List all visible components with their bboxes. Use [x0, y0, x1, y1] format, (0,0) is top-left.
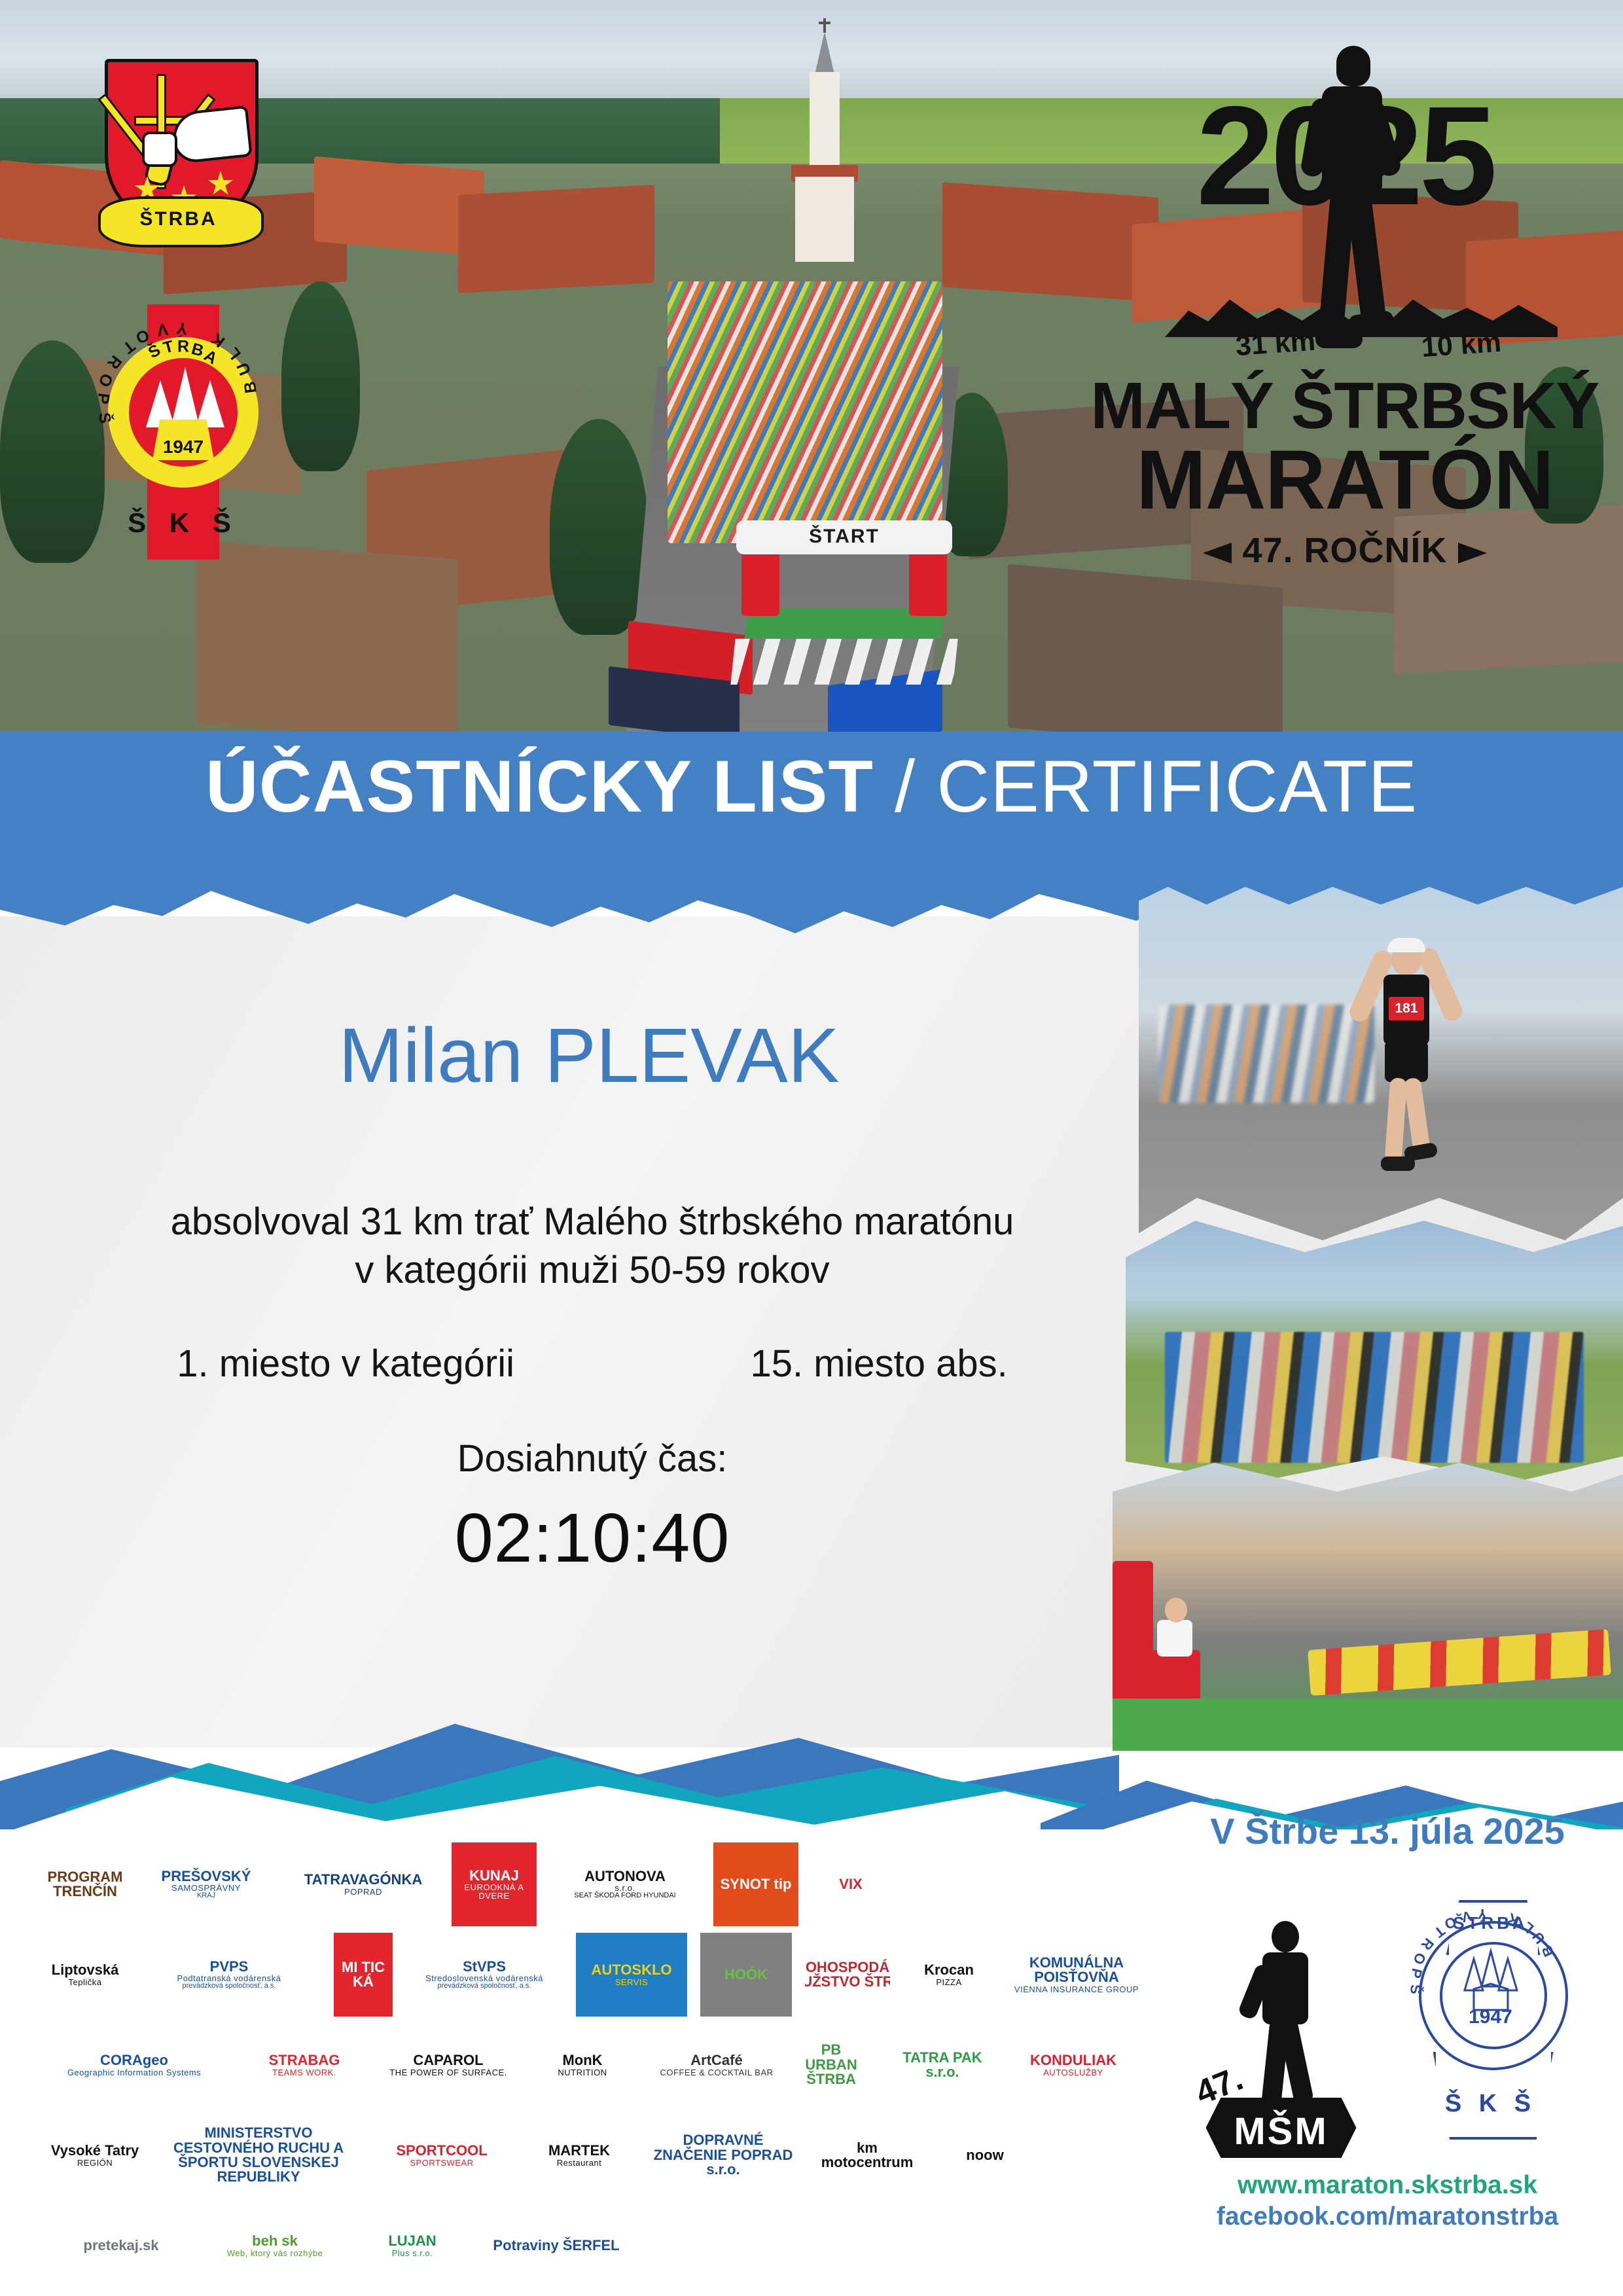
sponsor-name: StVPS [463, 1958, 506, 1975]
tree [281, 281, 360, 471]
sponsor-name: POĽNOHOSPODÁRSKE DRUŽSTVO ŠTRBA [805, 1959, 890, 1990]
sponsor-name: Krocan [924, 1962, 974, 1978]
race-bib-number: 181 [1389, 997, 1424, 1020]
sponsor-name: STRABAG [269, 2052, 340, 2068]
sponsor-name: beh sk [252, 2233, 298, 2249]
sponsor-logo[interactable]: Vysoké TatryREGIÓN [46, 2113, 144, 2197]
sponsor-row: LiptovskáTepličkaPVPSPodtatranská vodáre… [46, 1933, 1158, 2017]
sponsor-name: Vysoké Tatry [51, 2142, 139, 2159]
sponsor-name: PROGRAM TRENČÍN [48, 1869, 123, 1899]
sponsor-logo[interactable]: DOPRAVNÉ ZNAČENIE POPRAD s.r.o. [648, 2113, 798, 2197]
sponsor-subtitle: SERVIS [591, 1978, 671, 1986]
sponsor-logo[interactable]: PREŠOVSKÝSAMOSPRÁVNYKRAJ [137, 1842, 275, 1926]
sponsor-name: KOMUNÁLNA POISŤOVŇA [1029, 1954, 1124, 1985]
banner-title-bold: ÚČASTNÍCKY LIST [205, 745, 874, 827]
sponsor-name: MI TIC KÁ [342, 1959, 385, 1990]
sponsor-logo[interactable]: POĽNOHOSPODÁRSKE DRUŽSTVO ŠTRBA [805, 1933, 890, 2017]
msm-abbreviation: MŠM [1206, 2109, 1357, 2153]
athlete-name: Milan PLEVAK [79, 1011, 1099, 1100]
place-absolute: 15. miesto abs. [750, 1342, 1007, 1386]
banner-title-light: CERTIFICATE [936, 745, 1418, 827]
sponsor-subtitle: VIENNA INSURANCE GROUP [1009, 1985, 1144, 1994]
club-logo-abbreviation: Š K Š [101, 507, 265, 539]
group-runners-figures [1165, 1332, 1584, 1463]
sponsor-logo[interactable]: noow [936, 2113, 1034, 2197]
sponsor-subtitle: Stredoslovenská vodárenská [425, 1974, 543, 1982]
sponsor-name: AUTOSKLO [591, 1962, 671, 1978]
sks-strba-club-logo: ŠTRBA 1947 ŠPORTOVÝ KLUB Š K Š [101, 291, 265, 566]
date-and-place: V Štrbe 13. júla 2025 [1171, 1810, 1603, 1852]
sponsor-logo[interactable]: TATRAVAGÓNKAPOPRAD [288, 1842, 438, 1926]
sponsor-name: AUTONOVA [584, 1868, 666, 1884]
roof [458, 185, 654, 293]
spectators-blur [1158, 1005, 1374, 1103]
sponsor-subtitle: REGIÓN [51, 2159, 139, 2167]
cap-icon [1387, 938, 1425, 952]
description-line-1: absolvoval 31 km trať Malého štrbského m… [59, 1198, 1126, 1246]
sponsor-logo[interactable]: PB URBAN ŠTRBA [792, 2023, 870, 2107]
sponsor-subtitle: EUROOKNÁ A DVERE [453, 1883, 535, 1901]
sponsor-name: DOPRAVNÉ ZNAČENIE POPRAD s.r.o. [654, 2132, 793, 2178]
photo-group-runners [1126, 1221, 1623, 1482]
sponsor-logo[interactable]: LUJANPlus s.r.o. [353, 2204, 471, 2287]
sponsor-subtitle: NUTRITION [558, 2068, 607, 2077]
sponsor-logo[interactable]: PVPSPodtatranská vodárenskáprevádzková s… [137, 1933, 321, 2017]
start-arch-label: ŠTART [736, 526, 952, 548]
sks-abbreviation: Š K Š [1433, 2090, 1548, 2118]
leg-right [1403, 1077, 1430, 1153]
runner-crowd [668, 281, 942, 543]
sponsor-name: SPORTCOOL [396, 2142, 487, 2159]
contact-urls: www.maraton.skstrba.sk facebook.com/mara… [1171, 2170, 1603, 2232]
sponsor-logo[interactable]: PROGRAM TRENČÍN [46, 1842, 124, 1926]
finisher-woman-figure: 181 [1355, 926, 1459, 1201]
sponsor-logo[interactable]: SYNOT tip [713, 1842, 798, 1926]
sponsor-subtitle: SAMOSPRÁVNY [162, 1884, 251, 1892]
sponsor-subtitle: Web, ktorý vás rozhýbe [227, 2249, 323, 2257]
sponsor-subtitle: Plus s.r.o. [388, 2249, 436, 2257]
sponsor-subtitle: Restaurant [548, 2159, 610, 2167]
placement-row: 1. miesto v kategórii 15. miesto abs. [59, 1342, 1126, 1386]
emblem-sks-outline: ŠTRBA ŠPORTOVÝ KLUB 1947 Š K [1393, 1901, 1589, 2163]
runner-torso [1322, 86, 1382, 191]
distance-10km-ridge: 10 km [1342, 291, 1558, 363]
title-banner: ÚČASTNÍCKY LIST / CERTIFICATE [0, 732, 1623, 882]
sponsor-name: MARTEK [548, 2142, 610, 2159]
achieved-time-value: 02:10:40 [59, 1499, 1126, 1578]
website-url[interactable]: www.maraton.skstrba.sk [1171, 2170, 1603, 2201]
sponsor-logo[interactable]: TATRA PAK s.r.o. [883, 2023, 1001, 2107]
arrow-left-icon [1203, 543, 1232, 564]
sponsor-name: SYNOT tip [721, 1876, 792, 1892]
sponsor-logo[interactable]: km motocentrum [811, 2113, 923, 2197]
sponsor-logo[interactable]: beh skWeb, ktorý vás rozhýbe [209, 2204, 340, 2287]
distance-31km-ridge: 31 km [1165, 291, 1361, 363]
achieved-time-label: Dosiahnutý čas: [59, 1437, 1126, 1480]
sponsor-logo[interactable]: AUTOSKLOSERVIS [576, 1933, 687, 2017]
shorts [1385, 1041, 1428, 1082]
head [1272, 1921, 1299, 1952]
arch-right-leg [909, 550, 947, 616]
start-arch: ŠTART [736, 520, 952, 612]
sponsor-subtitle-2: SEAT ŠKODA FORD HYUNDAI [574, 1892, 675, 1899]
sponsor-logo[interactable]: STRABAGTEAMS WORK. [236, 2023, 373, 2107]
sponsor-logo[interactable]: ArtCaféCOFFEE & COCKTAIL BAR [654, 2023, 779, 2107]
sponsor-name: MINISTERSTVO CESTOVNÉHO RUCHU A ŠPORTU S… [173, 2125, 344, 2185]
distance-10km-label: 10 km [1420, 327, 1502, 364]
sponsor-logo[interactable]: KONDULIAKAUTOSLUŽBY [1014, 2023, 1132, 2107]
sponsor-subtitle: AUTOSLUŽBY [1030, 2068, 1116, 2077]
runner-head [1336, 46, 1370, 86]
distance-31km-label: 31 km [1234, 325, 1316, 363]
sponsor-name: PVPS [210, 1958, 249, 1975]
crest-fist-icon [142, 132, 177, 167]
msm-runner-icon [1245, 1921, 1324, 2117]
sponsor-logo[interactable]: CORAgeoGeographic Information Systems [46, 2023, 223, 2107]
emblem-47-msm: 47. MŠM [1200, 1901, 1363, 2163]
sponsor-logo[interactable]: KUNAJEUROOKNÁ A DVERE [452, 1842, 537, 1926]
sponsor-subtitle: THE POWER OF SURFACE. [389, 2068, 507, 2077]
sponsor-subtitle: Teplička [52, 1978, 119, 1986]
roof [196, 541, 458, 742]
shoe-right [1403, 1142, 1438, 1162]
crest-ribbon-label: ŠTRBA [98, 208, 259, 230]
sks-mountain-svg [1452, 1947, 1530, 2013]
event-logo: 2025 31 km 10 km MALÝ ŠTRBSKÝ MARATÓN 47… [1086, 33, 1603, 602]
torso [1262, 1952, 1308, 2024]
sponsor-logo[interactable]: MI TIC KÁ [334, 1933, 393, 2017]
sponsor-name: CAPAROL [413, 2052, 483, 2068]
footer-emblems: 47. MŠM ŠTRBA ŠPORTOVÝ KLUB [1185, 1895, 1603, 2170]
sponsor-logo[interactable]: CAPAROLTHE POWER OF SURFACE. [386, 2023, 510, 2107]
certificate-description: absolvoval 31 km trať Malého štrbského m… [59, 1198, 1126, 1295]
church-cross-icon [823, 18, 826, 33]
sponsor-logo[interactable]: MARTEKRestaurant [524, 2113, 635, 2197]
sponsor-name: TATRAVAGÓNKA [304, 1871, 422, 1888]
crosswalk [730, 639, 957, 685]
club-logo-bottom-arc-text: ŠPORTOVÝ KLUB [108, 337, 259, 488]
sponsor-subtitle: POPRAD [304, 1888, 422, 1896]
sponsor-logo[interactable]: MINISTERSTVO CESTOVNÉHO RUCHU A ŠPORTU S… [157, 2113, 360, 2197]
sponsor-name: pretekaj.sk [84, 2237, 159, 2253]
sponsor-name: LUJAN [388, 2233, 436, 2249]
sponsor-subtitle-2: KRAJ [162, 1892, 251, 1899]
sponsor-name: TATRA PAK s.r.o. [902, 2049, 982, 2080]
sponsor-logo[interactable]: VIX [811, 1842, 890, 1926]
sponsor-name: PB URBAN ŠTRBA [805, 2041, 857, 2087]
photo-finisher-woman: 181 [1139, 887, 1623, 1240]
sponsor-name: HOÓK [724, 1966, 768, 1982]
sponsor-logo[interactable]: Potraviny ŠERFEL [484, 2204, 628, 2287]
sponsor-logo[interactable]: pretekaj.sk [46, 2204, 196, 2287]
sponsor-name: MonK [562, 2052, 602, 2068]
tree [550, 419, 648, 635]
sponsor-row: pretekaj.skbeh skWeb, ktorý vás rozhýbeL… [46, 2204, 1158, 2287]
head [1165, 1598, 1187, 1623]
sponsor-name: Liptovská [52, 1962, 119, 1978]
sponsor-logo[interactable]: AUTONOVAs.r.o.SEAT ŠKODA FORD HYUNDAI [550, 1842, 700, 1926]
sponsor-row: PROGRAM TRENČÍNPREŠOVSKÝSAMOSPRÁVNYKRAJT… [46, 1842, 1158, 1926]
sponsor-name: PREŠOVSKÝ [162, 1868, 251, 1884]
msm-band: MŠM [1206, 2098, 1357, 2158]
crest-arm-icon [170, 105, 253, 164]
sponsor-subtitle: Podtatranská vodárenská [177, 1974, 281, 1982]
sponsor-name: km motocentrum [821, 2140, 914, 2170]
sponsor-subtitle: Geographic Information Systems [67, 2068, 201, 2077]
sponsor-name: VIX [839, 1876, 862, 1892]
sponsor-logo-grid: PROGRAM TRENČÍNPREŠOVSKÝSAMOSPRÁVNYKRAJT… [46, 1842, 1158, 2294]
sponsor-logo[interactable]: LiptovskáTeplička [46, 1933, 124, 2017]
event-name-line1: MALÝ ŠTRBSKÝ [1086, 373, 1603, 439]
church [795, 26, 854, 275]
sponsor-section: PROGRAM TRENČÍNPREŠOVSKÝSAMOSPRÁVNYKRAJT… [0, 1829, 1623, 2296]
leg-left [1385, 1077, 1408, 1162]
certificate-page: ŠTART ŠTRBA ŠTRBA 1947 [0, 0, 1623, 2296]
sponsor-logo[interactable]: StVPSStredoslovenská vodárenskáprevádzko… [406, 1933, 563, 2017]
place-in-category: 1. miesto v kategórii [177, 1342, 514, 1386]
event-info-panel: V Štrbe 13. júla 2025 47. MŠM ŠTRBA [1171, 1829, 1603, 2296]
description-line-2: v kategórii muži 50-59 rokov [59, 1246, 1126, 1295]
sponsor-name: Potraviny ŠERFEL [493, 2237, 619, 2253]
crest-star-icon [207, 171, 234, 197]
sks-year: 1947 [1440, 2006, 1542, 2028]
event-name-line2: MARATÓN [1086, 439, 1603, 522]
sponsor-name: KONDULIAK [1030, 2052, 1116, 2068]
blouse [1157, 1620, 1192, 1657]
finish-tape [1308, 1629, 1611, 1696]
sponsor-subtitle: PIZZA [924, 1978, 974, 1986]
strba-coat-of-arms: ŠTRBA [98, 59, 259, 255]
banner-title-separator: / [874, 745, 936, 827]
church-spire [815, 31, 834, 75]
sponsor-subtitle: TEAMS WORK. [269, 2068, 340, 2077]
sponsor-logo[interactable]: MonKNUTRITION [524, 2023, 641, 2107]
sponsor-logo[interactable]: KOMUNÁLNA POISŤOVŇAVIENNA INSURANCE GROU… [1008, 1933, 1145, 2017]
arch-left-leg [741, 550, 779, 616]
tree [0, 340, 105, 563]
banner-title: ÚČASTNÍCKY LIST / CERTIFICATE [0, 750, 1623, 823]
sponsor-logo[interactable]: HOÓK [700, 1933, 792, 2017]
sponsor-name: noow [966, 2147, 1003, 2163]
sks-mountains-icon [1452, 1947, 1530, 2013]
sponsor-name: ArtCafé [690, 2052, 742, 2068]
sponsor-subtitle-2: prevádzková spoločnosť, a.s. [177, 1982, 281, 1990]
event-edition-row: 47. ROČNÍK [1086, 530, 1603, 571]
event-edition-label: 47. ROČNÍK [1242, 531, 1447, 570]
sponsor-name: CORAgeo [100, 2052, 168, 2068]
sponsor-logo[interactable]: SPORTCOOLSPORTSWEAR [373, 2113, 510, 2197]
sponsor-subtitle: COFFEE & COCKTAIL BAR [660, 2068, 773, 2077]
photo-collage: 181 [1113, 887, 1623, 1751]
sponsor-name: KUNAJ [469, 1867, 519, 1884]
sponsor-row: CORAgeoGeographic Information SystemsSTR… [46, 2023, 1158, 2107]
sponsor-logo[interactable]: KrocanPIZZA [903, 1933, 995, 2017]
church-body [795, 177, 854, 262]
sponsor-subtitle-2: prevádzková spoločnosť, a.s. [425, 1982, 543, 1990]
arrow-right-icon [1458, 543, 1487, 564]
sponsor-subtitle: SPORTSWEAR [396, 2159, 487, 2167]
sponsor-row: Vysoké TatryREGIÓNMINISTERSTVO CESTOVNÉH… [46, 2113, 1158, 2197]
facebook-url[interactable]: facebook.com/maratonstrba [1171, 2201, 1603, 2233]
